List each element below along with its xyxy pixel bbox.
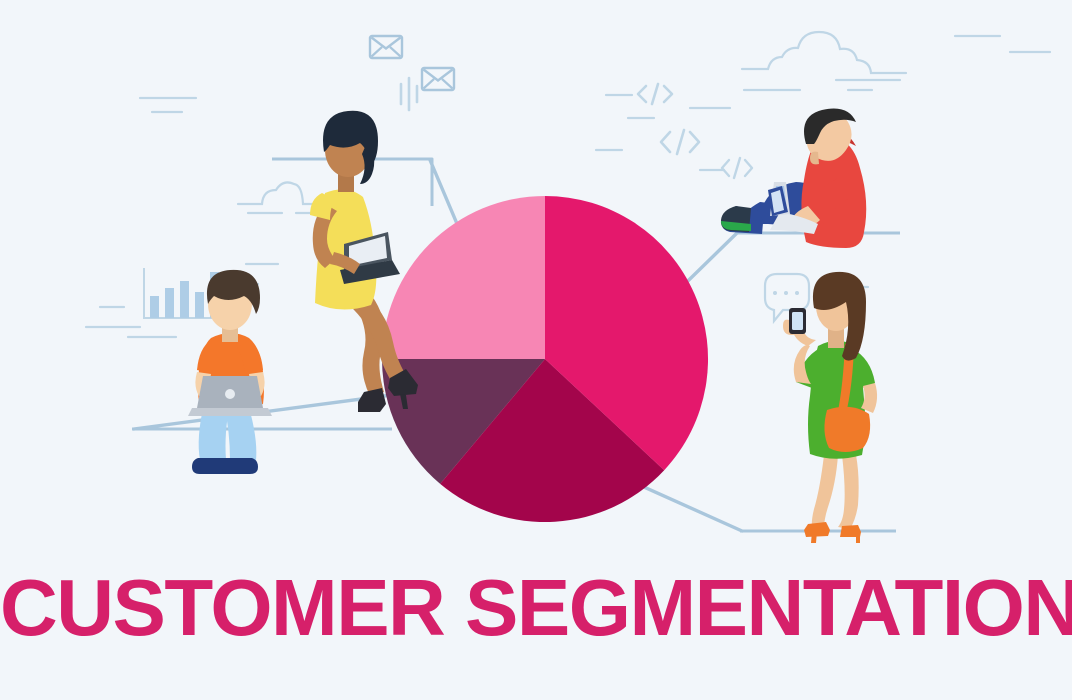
laptop-logo [225, 389, 235, 399]
cloud-icon [238, 182, 322, 204]
pie-chart[interactable] [382, 196, 708, 522]
ear [810, 152, 819, 165]
cloud-icon [742, 32, 906, 73]
heel [811, 531, 817, 543]
leg [838, 455, 859, 529]
handbag [824, 407, 870, 452]
leg [812, 455, 838, 529]
code-tag-icon [722, 158, 752, 178]
infographic-canvas: CUSTOMER SEGMENTATION [0, 0, 1072, 700]
shoe [222, 458, 258, 474]
code-tag-icon [638, 84, 672, 104]
envelope-icon [370, 36, 402, 58]
signal-bars-icon [401, 78, 417, 110]
character-woman-green-dress-phone [783, 272, 877, 543]
phone-screen [792, 312, 803, 330]
page-title: CUSTOMER SEGMENTATION [0, 562, 1072, 654]
pie-slice-segment-d[interactable] [382, 196, 545, 359]
chat-bubble-dot [795, 291, 799, 295]
shoe [358, 388, 386, 412]
heel [856, 532, 860, 543]
shoe [804, 522, 830, 537]
chat-bubble-dot [773, 291, 777, 295]
code-tag-icon [661, 130, 699, 154]
character-man-red-hoodie-laptop [721, 109, 866, 249]
laptop-base [188, 408, 272, 416]
envelope-icon [422, 68, 454, 90]
chat-bubble-dot [784, 291, 788, 295]
